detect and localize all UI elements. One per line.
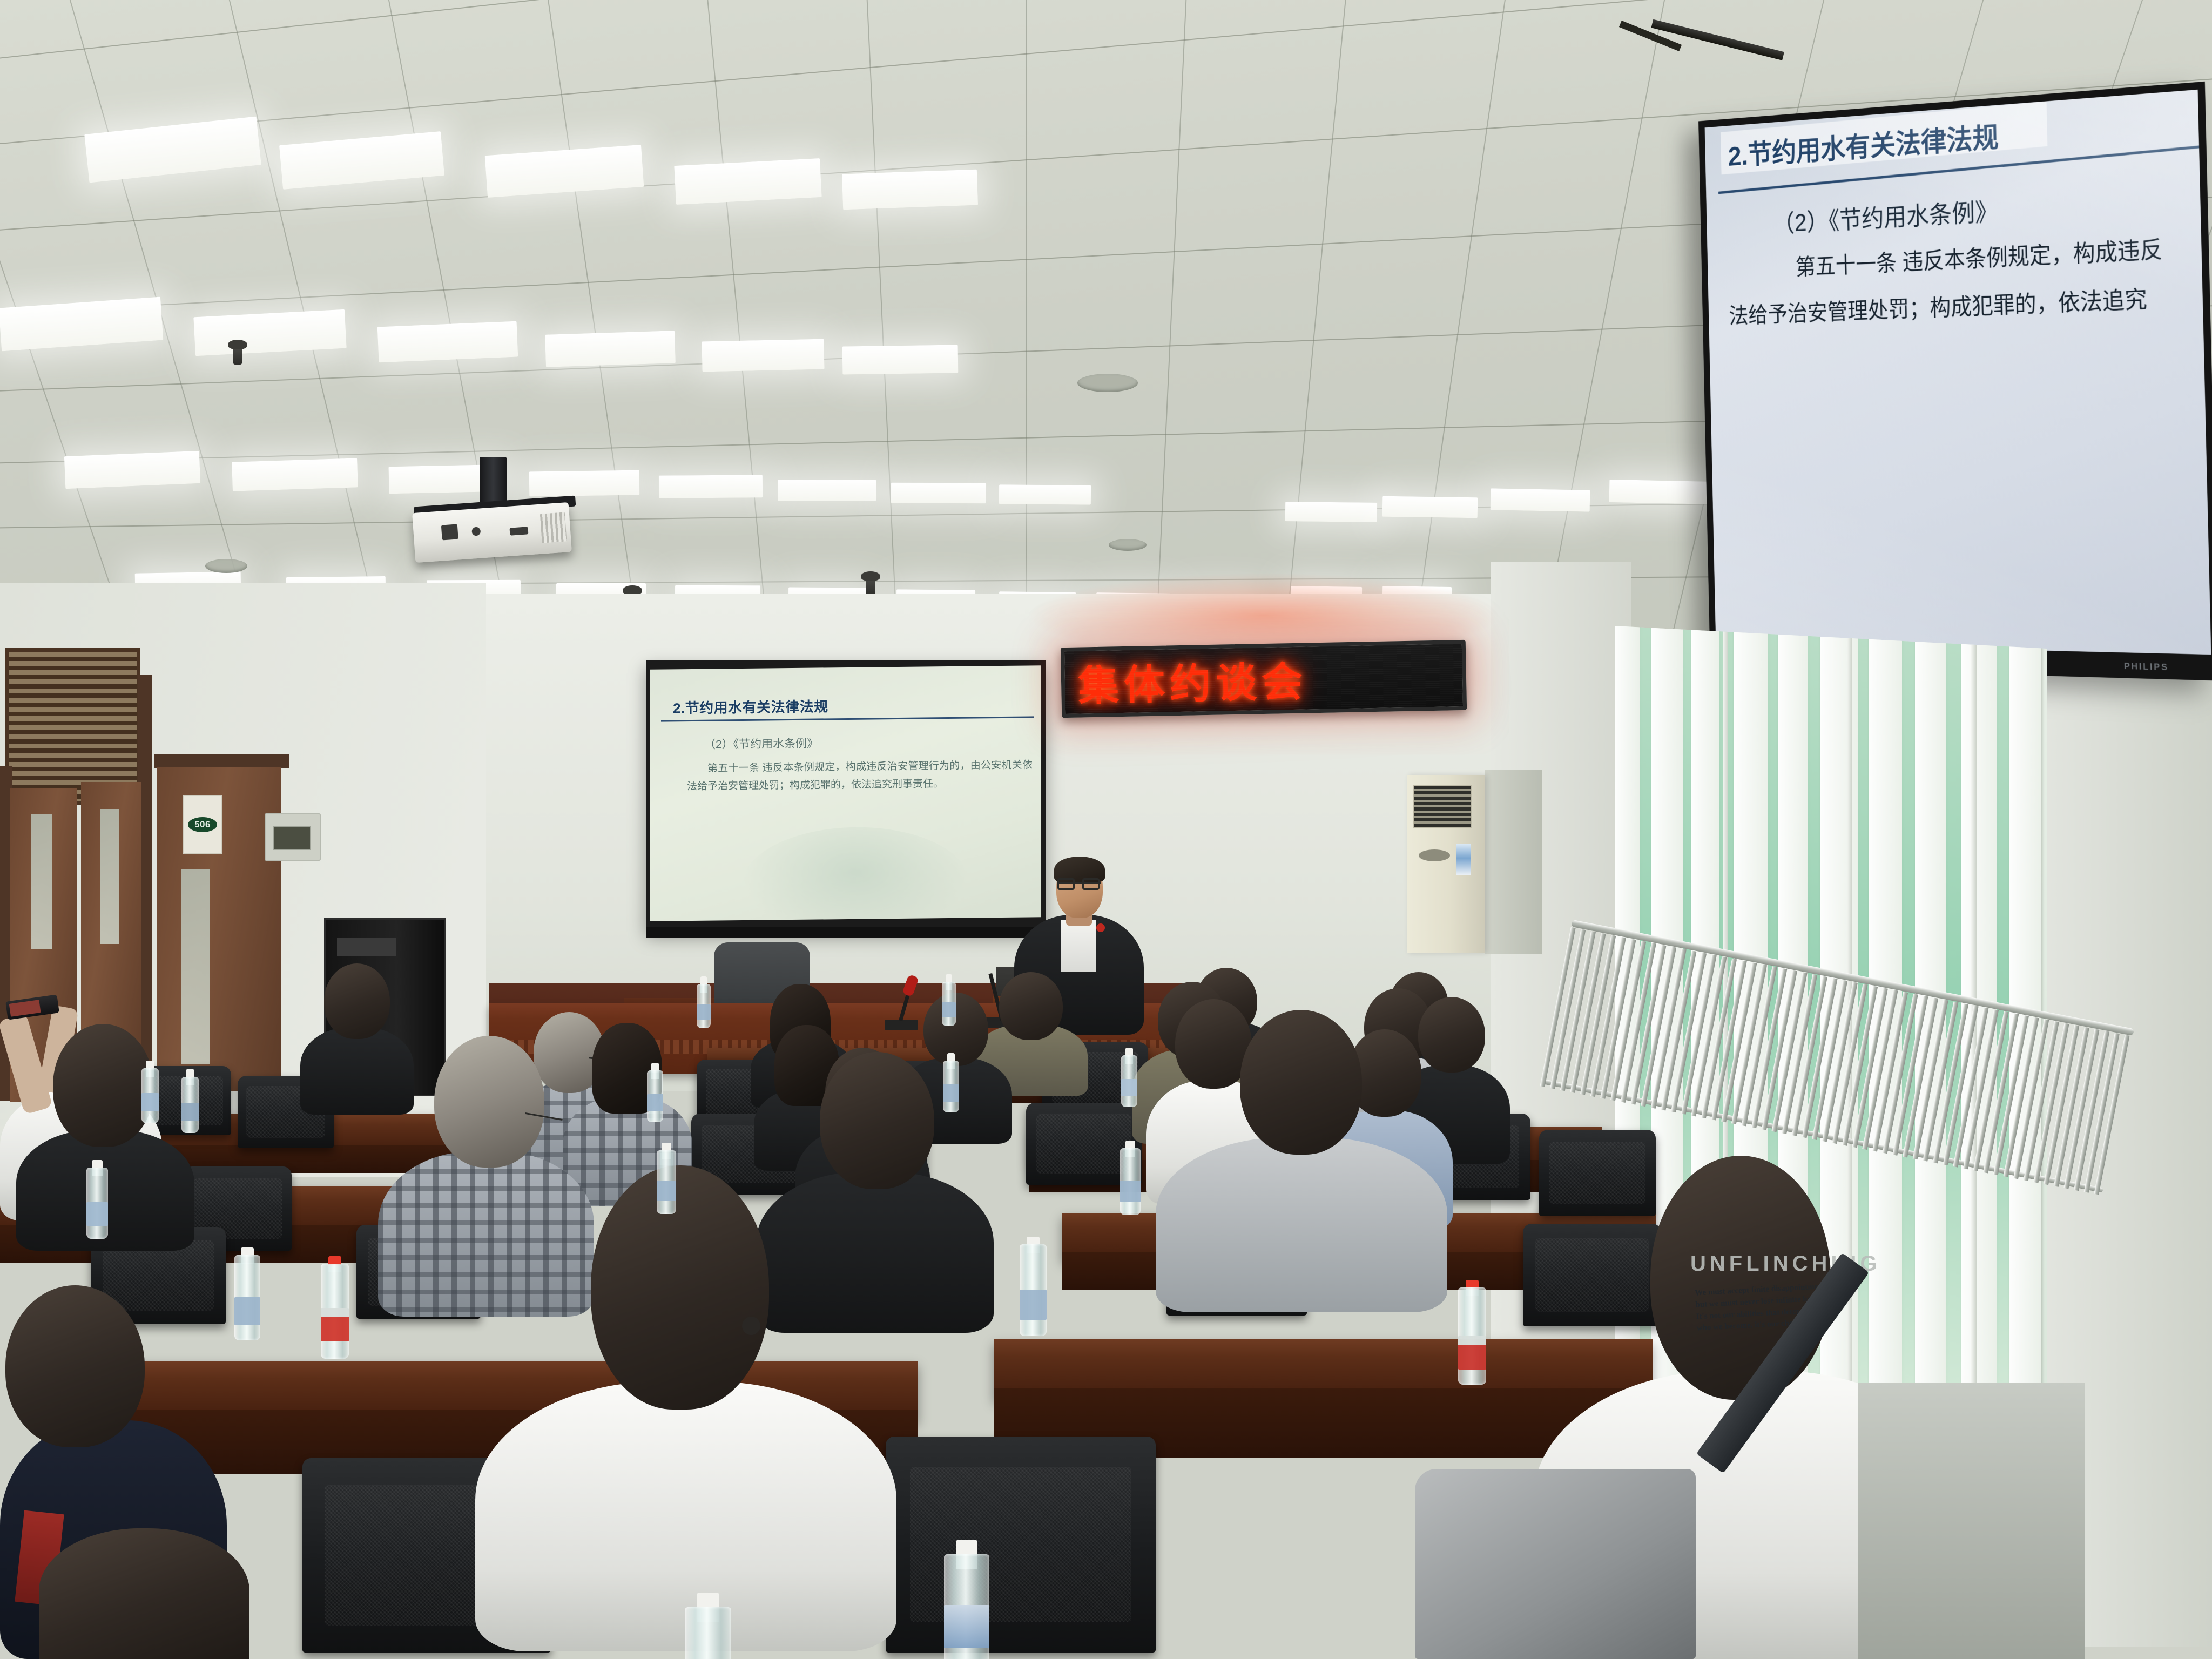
sprinkler-head-icon [866,578,875,596]
ceiling-light-panel [485,145,644,198]
ceiling-light-panel [1382,496,1478,518]
bottle-label [1020,1290,1047,1320]
bottle-label [647,1094,663,1111]
ceiling-light-panel [1491,488,1590,511]
water-bottle[interactable] [943,1053,959,1112]
water-bottle[interactable] [234,1247,260,1340]
ac-unit-side [1485,770,1542,954]
bottle-label [181,1103,199,1121]
bottle-label [1121,1079,1137,1096]
glasses-lens-left-icon [1057,878,1075,890]
projection-screen-frame: 2.节约用水有关法律法规 （2）《节约用水条例》 第五十一条 违反本条例规定，构… [646,660,1046,930]
person-torso [1156,1137,1447,1312]
ceiling-light-panel [674,158,821,205]
screen-bottom-shadow [646,927,1056,938]
smoke-detector-icon [205,559,247,573]
water-bottle[interactable] [647,1063,663,1122]
door-number-sign: 506 [183,795,222,854]
projector-port [510,527,529,535]
water-bottle[interactable] [697,976,711,1028]
wall-control-panel[interactable] [265,813,321,861]
water-bottle[interactable] [942,974,956,1026]
water-bottle-red-label[interactable] [321,1256,349,1359]
lapel-pin-icon [1096,923,1105,932]
ceiling-light-panel [659,475,763,498]
projector-vent-icon [540,512,567,543]
projected-slide-title: 2.节约用水有关法律法规 [673,696,828,717]
tv-brand-logo: PHILIPS [2124,661,2169,673]
audience-person-white-shirt [475,1165,896,1651]
rack-equipment-slot [337,938,396,956]
ac-sticker [1456,844,1471,875]
audience-person-grey-shirt [1156,1010,1447,1312]
water-bottle-foreground[interactable] [685,1593,731,1659]
person-head [434,1036,544,1168]
ceiling-light-panel [529,470,640,497]
ac-grille-icon [1413,785,1472,828]
bottle-label [141,1093,159,1111]
projected-slide-body: 第五十一条 违反本条例规定，构成违反治安管理行为的，由公安机关依法给予治安管理处… [687,756,1033,795]
water-bottle[interactable] [657,1143,676,1214]
door-vision-panel [31,814,52,949]
bottle-label [1458,1336,1486,1370]
projector-lens-icon [471,527,481,536]
tv-slide-subtitle: （2）《节约用水条例》 [1772,191,1998,239]
ceiling-light-panel [1285,502,1377,522]
ceiling-light-panel [232,458,358,491]
smoke-detector-icon [1109,539,1147,551]
ceiling-light-panel [0,297,163,352]
tv-slide-line-1: 第五十一条 违反本条例规定，构成违反 [1795,231,2163,282]
person-head [53,1024,153,1147]
slide-watermark [742,826,969,921]
ceiling-light-panel [842,170,978,210]
ceiling-light-panel [377,321,518,363]
ceiling-light-panel [1609,480,1716,504]
ac-brand-badge [1419,849,1450,861]
bottle-label [321,1308,349,1341]
earphone-icon [742,1317,760,1335]
projector-port [441,524,458,540]
chair-foreground[interactable] [886,1437,1156,1653]
ceiling-light-panel [64,451,200,489]
bottle-label [1120,1181,1141,1202]
air-conditioner-unit[interactable] [1407,775,1485,953]
bottle-label [944,1605,989,1648]
person-head [591,1165,769,1410]
water-bottle[interactable] [181,1069,199,1133]
person-head [1650,1156,1831,1400]
water-bottle-foreground[interactable] [944,1540,989,1659]
tv-slide-line-2: 法给予治安管理处罚；构成犯罪的，依法追究 [1729,280,2148,330]
ceiling-light-panel [778,480,876,501]
door-head-frame [154,754,289,768]
floor-right [1858,1382,2085,1659]
ceiling-light-panel [702,339,824,372]
door-transom-louver [5,648,140,805]
bottle-body [685,1607,731,1659]
bottle-label [657,1181,676,1201]
projected-slide-subtitle: （2）《节约用水条例》 [704,735,818,752]
person-head [1240,1010,1362,1155]
ceiling-light-panel [279,131,444,190]
conference-room-scene: 506 2.节约用水有关法律法规 （2）《节约用水条例》 第五十一条 违反本条例… [0,0,2212,1659]
bottle-label [86,1202,108,1226]
water-bottle-red-label[interactable] [1458,1280,1486,1385]
ceiling-tile-line [0,0,2212,82]
projected-slide-rule [661,716,1034,721]
person-head [324,963,390,1039]
wall-panel-screen [273,826,311,850]
smoke-detector-icon [1077,374,1138,392]
water-bottle[interactable] [86,1160,108,1239]
water-bottle[interactable] [141,1061,159,1123]
tv-screen-glare [1705,90,2211,655]
glasses-lens-right-icon [1082,878,1100,890]
tv-screen: 2.节约用水有关法律法规 （2）《节约用水条例》 第五十一条 违反本条例规定，构… [1705,90,2211,655]
audience-person-bottom-edge [39,1528,249,1659]
led-scrolling-banner: 集体约谈会 [1061,640,1467,718]
door-vision-panel [100,809,119,944]
water-bottle[interactable] [1121,1048,1137,1107]
ceiling-tile-line [0,0,2212,11]
door-number-label: 506 [188,817,217,832]
sprinkler-head-icon [233,346,242,365]
ceiling-light-panel [891,483,986,504]
bottle-label [942,1002,956,1017]
ceiling-light-panel [999,484,1091,504]
jacket-on-chair [1415,1469,1696,1659]
ceiling-light-panel [545,331,676,367]
ceiling-light-panel [193,309,346,356]
ceiling-light-panel [842,345,959,375]
person-head [5,1285,145,1447]
ceiling-light-panel [84,117,261,183]
bottle-label [234,1297,260,1325]
person-head [39,1528,249,1659]
bottle-label [697,1004,711,1020]
projection-screen: 2.节约用水有关法律法规 （2）《节约用水条例》 第五十一条 违反本条例规定，构… [650,665,1041,921]
led-banner-text: 集体约谈会 [1064,648,1308,712]
wall-mounted-tv: 2.节约用水有关法律法规 （2）《节约用水条例》 第五十一条 违反本条例规定，构… [1698,82,2212,681]
bottle-label [943,1084,959,1102]
water-bottle[interactable] [1120,1141,1141,1215]
water-bottle[interactable] [1020,1237,1047,1336]
presenter-shirt [1061,920,1096,972]
